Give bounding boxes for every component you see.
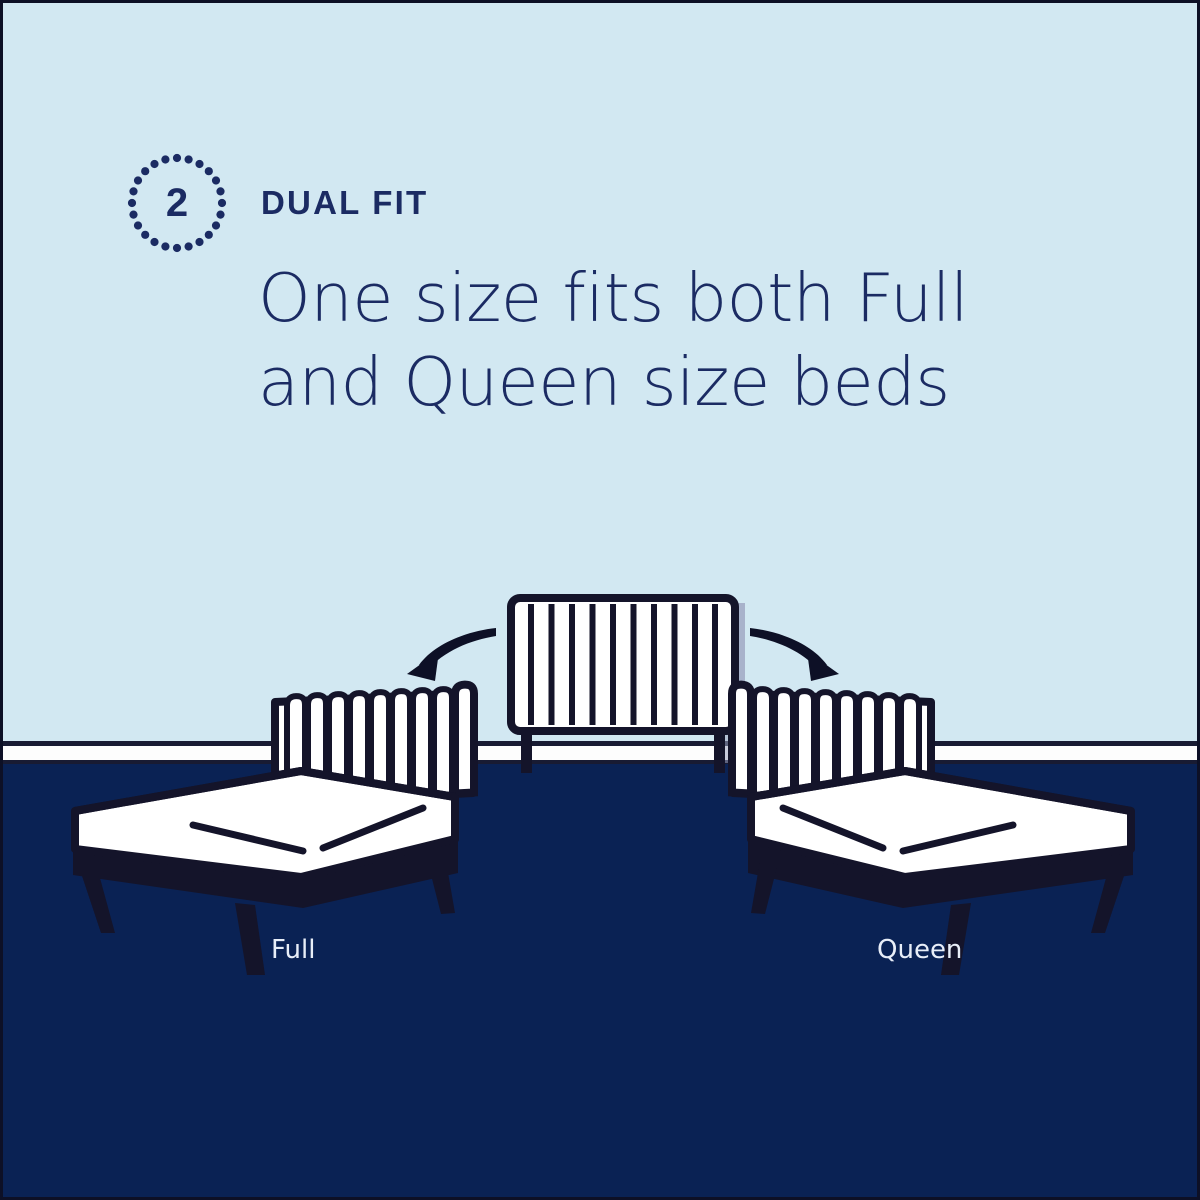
bed-label-full: Full (271, 935, 315, 965)
arrow-right-icon (750, 628, 839, 681)
beds-illustration (3, 3, 1200, 1200)
bed-label-queen: Queen (877, 935, 962, 965)
center-headboard (511, 598, 745, 773)
infographic-canvas: 2 DUAL FIT One size fits both Full and Q… (0, 0, 1200, 1200)
bed-queen (732, 685, 1133, 975)
bed-full (73, 685, 474, 975)
arrow-left-icon (407, 628, 496, 681)
